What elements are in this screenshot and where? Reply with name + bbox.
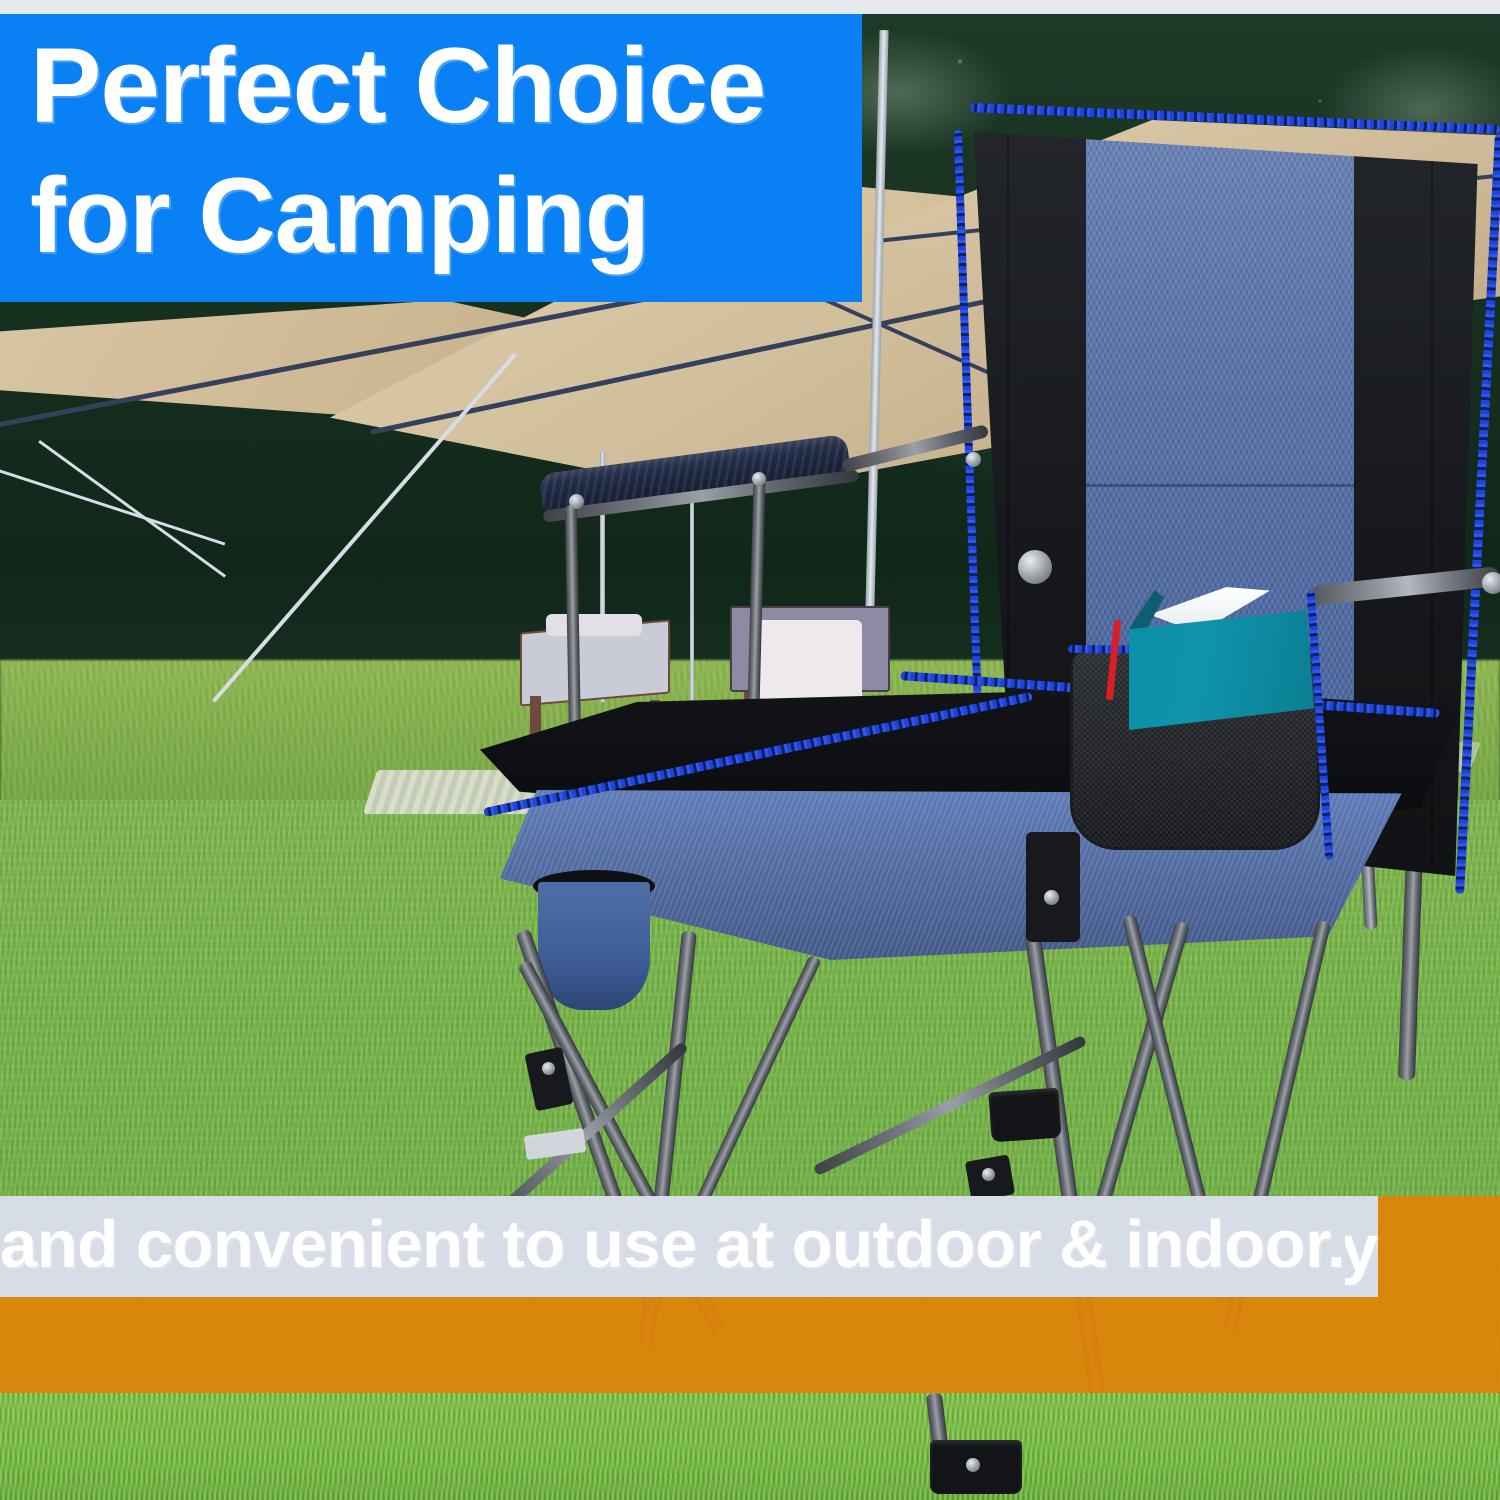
headline-line-1: Perfect Choice: [30, 20, 862, 150]
chair-hinge-center: [1026, 832, 1080, 942]
backrest-piping-top: [970, 103, 1500, 134]
footer-banner: Multi-function folding camping chair is …: [0, 1196, 1500, 1393]
chair-foot-rear-left: [524, 1128, 587, 1160]
armrest-left-rivet-rear: [752, 472, 766, 486]
chair-hinge-center-bolt: [1044, 890, 1059, 905]
chair-hinge-left-bolt: [542, 1062, 555, 1075]
chair-foot-front-rivet: [966, 1458, 980, 1472]
backrest-seam-right: [1431, 108, 1433, 908]
headline-banner: Perfect Choice for Camping: [0, 14, 862, 302]
cup-holder: [538, 882, 650, 1010]
armrest-right-end-cap: [1482, 572, 1500, 594]
footer-line-2: and convenient to use at outdoor & indoo…: [0, 1196, 1345, 1293]
armrest-left-rivet: [569, 494, 584, 509]
marketing-image: Perfect Choice for Camping Multi-functio…: [0, 0, 1500, 1500]
headline-line-2: for Camping: [30, 150, 862, 280]
lawn-foreground: [0, 1393, 1500, 1500]
backrest-seam-horizontal: [1086, 484, 1355, 487]
chair-hinge-right-bolt: [982, 1168, 995, 1181]
armrest-right-bolt: [1018, 550, 1052, 584]
armrest-left-curve-rivet: [966, 452, 981, 467]
chair-foot-mid: [988, 1088, 1061, 1143]
armrest-left-support-front: [565, 505, 581, 745]
